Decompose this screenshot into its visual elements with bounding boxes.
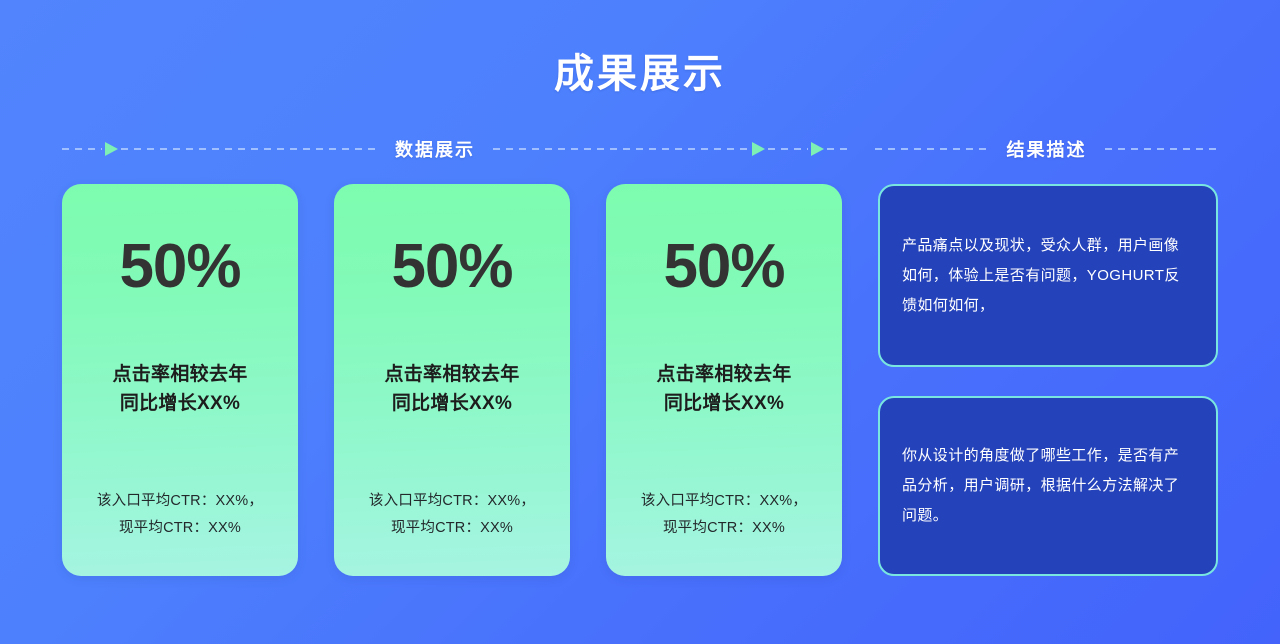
stat-headline-line: 点击率相较去年 [656,360,791,389]
stat-cards-area: 50% 点击率相较去年 同比增长XX% 该入口平均CTR：XX%， 现平均CTR… [62,184,842,576]
stat-headline: 点击率相较去年 同比增长XX% [384,360,519,419]
data-section-header: 数据展示 [62,136,853,162]
main-content: 50% 点击率相较去年 同比增长XX% 该入口平均CTR：XX%， 现平均CTR… [0,184,1280,576]
description-text: 你从设计的角度做了哪些工作，是否有产品分析，用户调研，根据什么方法解决了问题。 [902,441,1194,531]
dashed-rail-segment [1105,148,1219,150]
stat-card[interactable]: 50% 点击率相较去年 同比增长XX% 该入口平均CTR：XX%， 现平均CTR… [62,184,298,576]
stat-headline-line: 同比增长XX% [656,389,791,418]
stat-headline-line: 同比增长XX% [384,389,519,418]
stat-note: 该入口平均CTR：XX%， 现平均CTR：XX% [97,488,263,550]
arrow-right-icon [752,142,765,156]
description-text: 产品痛点以及现状，受众人群，用户画像如何，体验上是否有问题，YOGHURT反馈如… [902,231,1194,321]
stat-note-line: 该入口平均CTR：XX%， [641,488,807,515]
description-area: 产品痛点以及现状，受众人群，用户画像如何，体验上是否有问题，YOGHURT反馈如… [878,184,1218,576]
stat-value: 50% [391,236,512,298]
stat-headline: 点击率相较去年 同比增长XX% [656,360,791,419]
page-title: 成果展示 [0,0,1280,98]
dashed-rail-segment [875,148,989,150]
stat-value: 50% [663,236,784,298]
stat-headline-line: 点击率相较去年 [112,360,247,389]
stat-note-line: 现平均CTR：XX% [369,515,535,542]
dashed-rail-segment [827,148,853,150]
stat-note: 该入口平均CTR：XX%， 现平均CTR：XX% [369,488,535,550]
stat-value: 50% [119,236,240,298]
section-label-data: 数据展示 [377,136,493,162]
section-label-result: 结果描述 [989,136,1105,162]
stat-note-line: 该入口平均CTR：XX%， [97,488,263,515]
stat-note-line: 现平均CTR：XX% [641,515,807,542]
stat-note-line: 该入口平均CTR：XX%， [369,488,535,515]
arrow-right-icon [811,142,824,156]
stat-headline-line: 同比增长XX% [112,389,247,418]
dashed-rail-segment [493,148,749,150]
dashed-rail-segment [62,148,102,150]
stat-note: 该入口平均CTR：XX%， 现平均CTR：XX% [641,488,807,550]
stat-headline: 点击率相较去年 同比增长XX% [112,360,247,419]
stat-card[interactable]: 50% 点击率相较去年 同比增长XX% 该入口平均CTR：XX%， 现平均CTR… [606,184,842,576]
arrow-right-icon [105,142,118,156]
stat-headline-line: 点击率相较去年 [384,360,519,389]
description-box[interactable]: 产品痛点以及现状，受众人群，用户画像如何，体验上是否有问题，YOGHURT反馈如… [878,184,1218,367]
description-box[interactable]: 你从设计的角度做了哪些工作，是否有产品分析，用户调研，根据什么方法解决了问题。 [878,396,1218,576]
result-section-header: 结果描述 [853,136,1218,162]
stat-card[interactable]: 50% 点击率相较去年 同比增长XX% 该入口平均CTR：XX%， 现平均CTR… [334,184,570,576]
dashed-rail-segment [768,148,808,150]
section-header-bar: 数据展示 结果描述 [0,136,1280,162]
dashed-rail-segment [121,148,377,150]
stat-note-line: 现平均CTR：XX% [97,515,263,542]
